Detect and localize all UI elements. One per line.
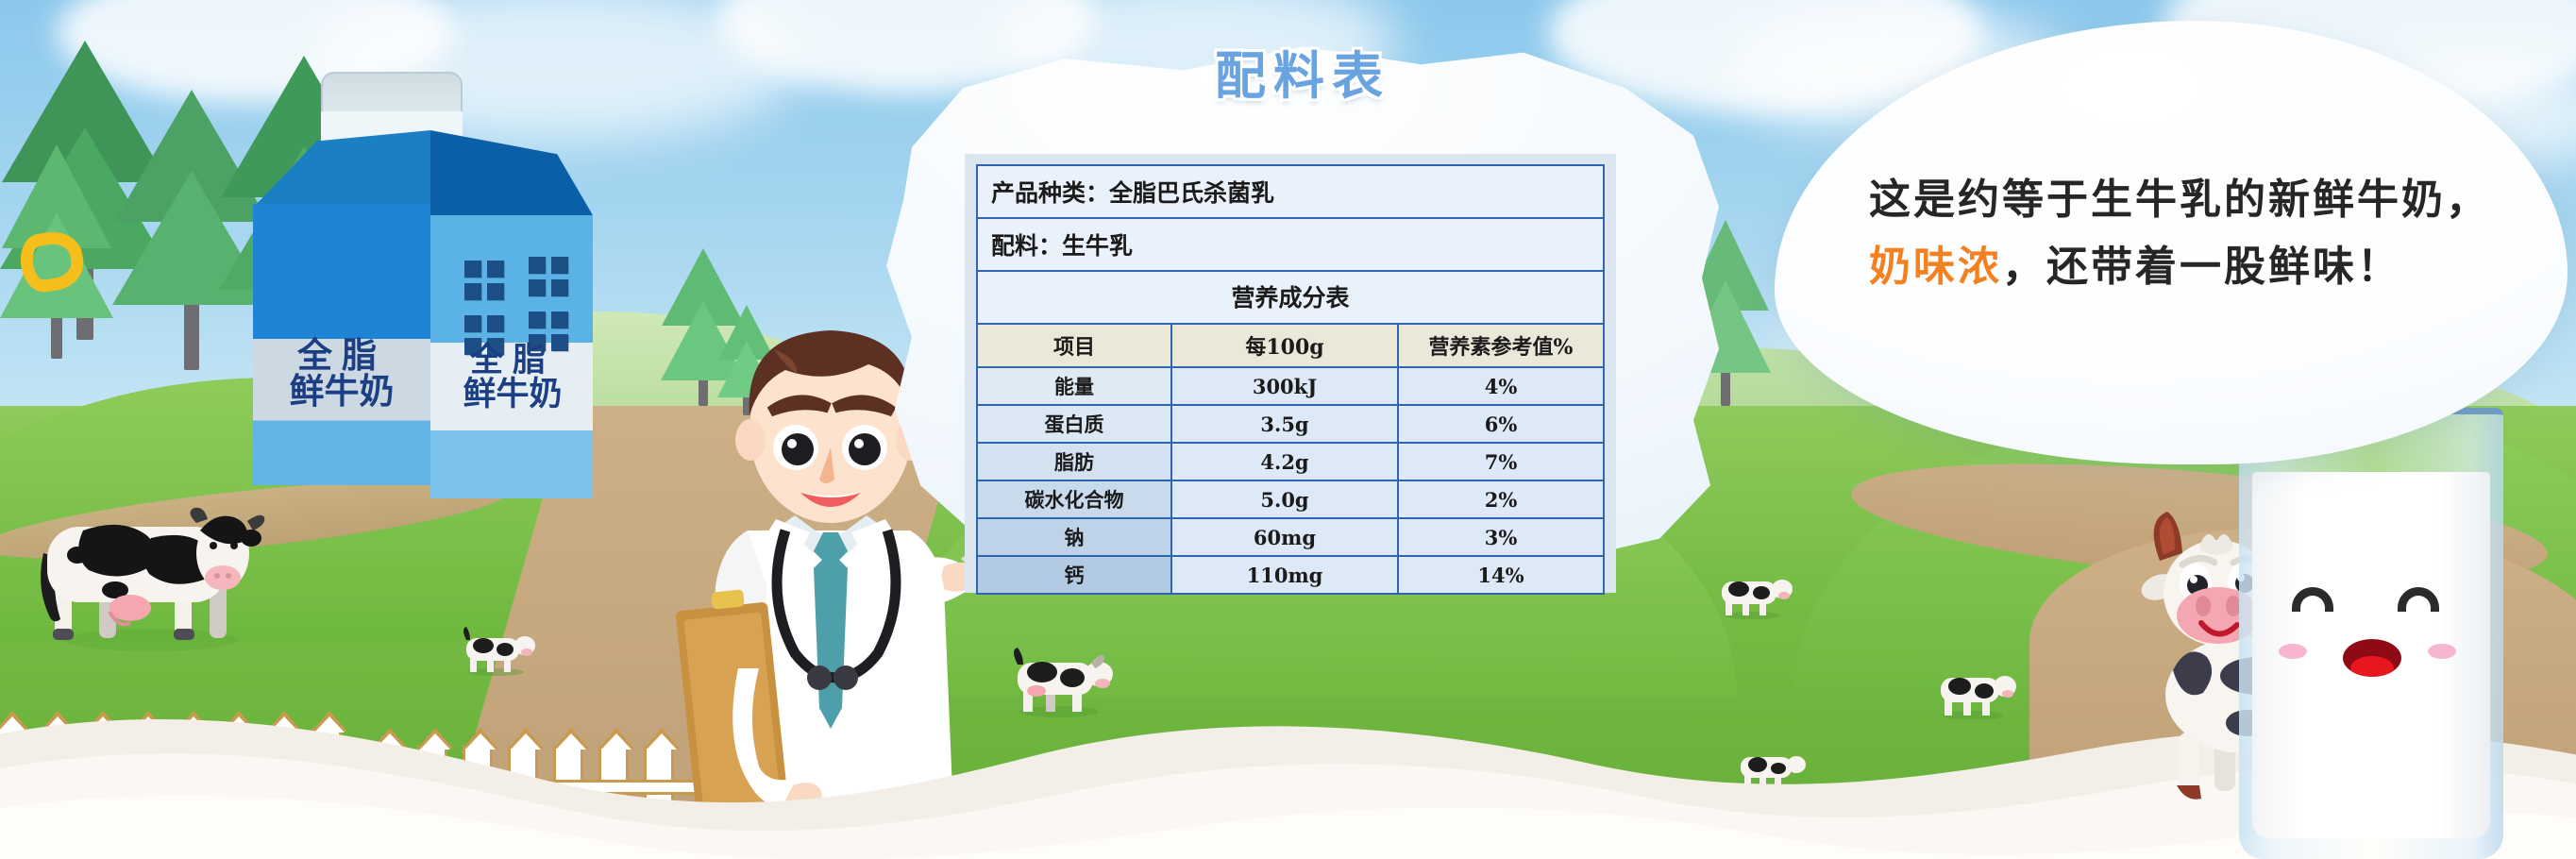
table-header-row: 项目 每100g 营养素参考值% <box>977 324 1604 367</box>
nutrient-per100g: 300kJ <box>1171 367 1398 405</box>
poster-canvas: 全脂 鲜牛奶 全脂 鲜牛奶 <box>0 0 2576 859</box>
bubble-text-highlight: 奶味浓 <box>1869 243 2002 291</box>
nutrient-per100g: 4.2g <box>1171 443 1398 480</box>
column-header-nrv: 营养素参考值% <box>1398 324 1604 367</box>
page-title: 配料表 <box>878 34 1727 109</box>
glass-cheek-right <box>2428 644 2456 659</box>
table-row-product-type: 产品种类：全脂巴氏杀菌乳 <box>977 165 1604 218</box>
nutrient-nrv: 3% <box>1398 518 1604 556</box>
table-row: 钙 110mg 14% <box>977 556 1604 594</box>
speech-bubble-text: 这是约等于生牛乳的新鲜牛奶，奶味浓，还带着一股鲜味！ <box>1869 166 2492 301</box>
carton-side-label: 全脂 鲜牛奶 <box>432 344 593 411</box>
nutrient-per100g: 60mg <box>1171 518 1398 556</box>
product-type-cell: 产品种类：全脂巴氏杀菌乳 <box>977 165 1604 218</box>
nutrition-heading-cell: 营养成分表 <box>977 271 1604 324</box>
nutrient-nrv: 14% <box>1398 556 1604 594</box>
carton-roof-right <box>430 130 593 215</box>
table-row: 碳水化合物 5.0g 2% <box>977 480 1604 518</box>
nutrient-name: 钙 <box>977 556 1171 594</box>
carton-front-label: 全脂 鲜牛奶 <box>257 338 427 409</box>
carton-roof-left <box>253 130 430 208</box>
table-row: 能量 300kJ 4% <box>977 367 1604 405</box>
ingredient-table: 产品种类：全脂巴氏杀菌乳 配料：生牛乳 营养成分表 项目 每100g 营养素参考… <box>976 164 1605 595</box>
ingredients-cell: 配料：生牛乳 <box>977 218 1604 271</box>
milk-glass-character <box>2239 408 2503 859</box>
table-row-nutrition-heading: 营养成分表 <box>977 271 1604 324</box>
column-header-item: 项目 <box>977 324 1171 367</box>
column-header-per100g: 每100g <box>1171 324 1398 367</box>
table-row: 脂肪 4.2g 7% <box>977 443 1604 480</box>
nutrient-name: 蛋白质 <box>977 405 1171 443</box>
table-row: 蛋白质 3.5g 6% <box>977 405 1604 443</box>
glass-mouth <box>2343 639 2401 677</box>
carton-side-label-line1: 全脂 <box>432 344 593 378</box>
nutrient-name: 能量 <box>977 367 1171 405</box>
table-row: 钠 60mg 3% <box>977 518 1604 556</box>
nutrient-nrv: 7% <box>1398 443 1604 480</box>
nutrient-name: 脂肪 <box>977 443 1171 480</box>
carton-side-label-line2: 鲜牛奶 <box>432 378 593 412</box>
table-row-ingredients: 配料：生牛乳 <box>977 218 1604 271</box>
carton-front-label-line2: 鲜牛奶 <box>257 374 427 410</box>
nutrient-name: 钠 <box>977 518 1171 556</box>
nutrient-nrv: 2% <box>1398 480 1604 518</box>
carton-square-pattern <box>529 257 568 296</box>
carton-square-pattern <box>464 261 504 300</box>
carton-front-label-line1: 全脂 <box>257 338 427 374</box>
ingredient-table-wrapper: 产品种类：全脂巴氏杀菌乳 配料：生牛乳 营养成分表 项目 每100g 营养素参考… <box>965 154 1616 593</box>
nutrient-name: 碳水化合物 <box>977 480 1171 518</box>
glass-cheek-left <box>2279 644 2307 659</box>
bubble-text-part2: ，还带着一股鲜味！ <box>2002 243 2401 291</box>
nutrient-nrv: 6% <box>1398 405 1604 443</box>
nutrient-per100g: 5.0g <box>1171 480 1398 518</box>
milk-carton-illustration: 全脂 鲜牛奶 全脂 鲜牛奶 <box>234 72 612 515</box>
nutrient-per100g: 3.5g <box>1171 405 1398 443</box>
bubble-text-part1: 这是约等于生牛乳的新鲜牛奶， <box>1869 176 2490 224</box>
cow-illustration-small <box>1709 566 1795 619</box>
nutrient-nrv: 4% <box>1398 367 1604 405</box>
nutrient-per100g: 110mg <box>1171 556 1398 594</box>
